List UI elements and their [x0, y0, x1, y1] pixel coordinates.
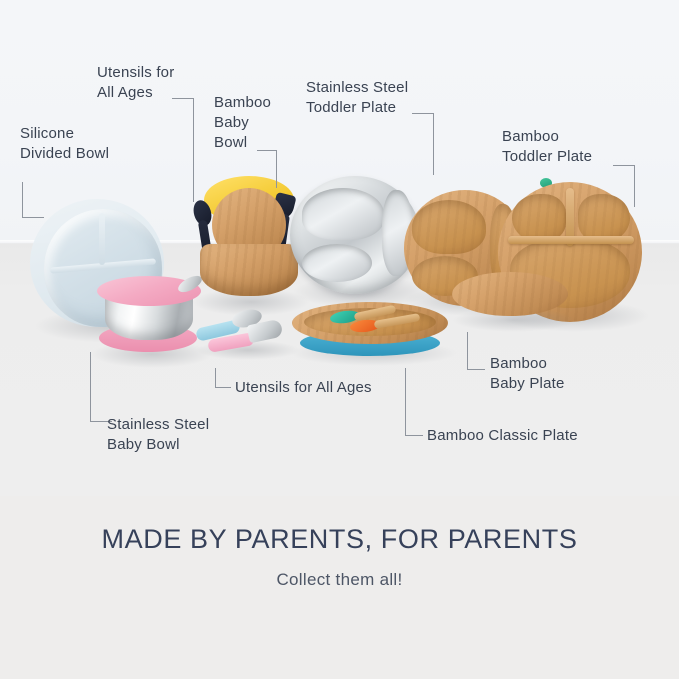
bamboo-baby-plate-body: [452, 272, 568, 316]
bamboo-toddler-plate-front-well-upper-left: [512, 194, 566, 242]
label-stainless-toddler-plate: Stainless Steel Toddler Plate: [306, 78, 436, 118]
footer-subline: Collect them all!: [0, 570, 679, 590]
label-bamboo-classic-plate: Bamboo Classic Plate: [427, 426, 627, 446]
leader-line-utensils-all-ages-bottom: [215, 368, 231, 388]
product-utensils-blue-pink: [196, 306, 296, 360]
footer-headline: MADE BY PARENTS, FOR PARENTS: [0, 524, 679, 555]
label-bamboo-baby-bowl: Bamboo Baby Bowl: [214, 93, 294, 153]
leader-line-bamboo-toddler-plate: [613, 165, 635, 207]
leader-line-silicone-divided-bowl: [22, 182, 44, 218]
product-bamboo-baby-bowl: [196, 176, 304, 316]
leader-line-bamboo-baby-plate: [467, 332, 485, 370]
leader-line-bamboo-baby-bowl: [257, 150, 277, 188]
product-infographic: Silicone Divided Bowl Utensils for All A…: [0, 0, 679, 679]
bamboo-toddler-plate-front-divider-horizontal: [508, 236, 634, 244]
leader-line-stainless-toddler-plate: [412, 113, 434, 175]
bamboo-baby-bowl-body: [200, 244, 298, 296]
label-stainless-baby-bowl: Stainless Steel Baby Bowl: [107, 415, 257, 455]
label-utensils-all-ages-bottom: Utensils for All Ages: [235, 378, 435, 398]
leader-line-stainless-baby-bowl: [90, 352, 112, 422]
stainless-toddler-plate-well-lower: [302, 244, 372, 282]
silicone-bowl-divider-vertical: [99, 213, 105, 265]
stainless-toddler-plate-well-main: [302, 188, 384, 240]
label-utensils-all-ages-top: Utensils for All Ages: [97, 63, 207, 103]
label-bamboo-baby-plate: Bamboo Baby Plate: [490, 354, 620, 394]
product-stainless-baby-bowl: [93, 272, 208, 364]
product-bamboo-baby-plate: [452, 272, 572, 328]
bamboo-toddler-plate-back-well-main: [412, 200, 486, 254]
label-silicone-divided-bowl: Silicone Divided Bowl: [20, 124, 200, 164]
product-bamboo-classic-plate: [292, 300, 452, 364]
label-bamboo-toddler-plate: Bamboo Toddler Plate: [502, 127, 632, 167]
